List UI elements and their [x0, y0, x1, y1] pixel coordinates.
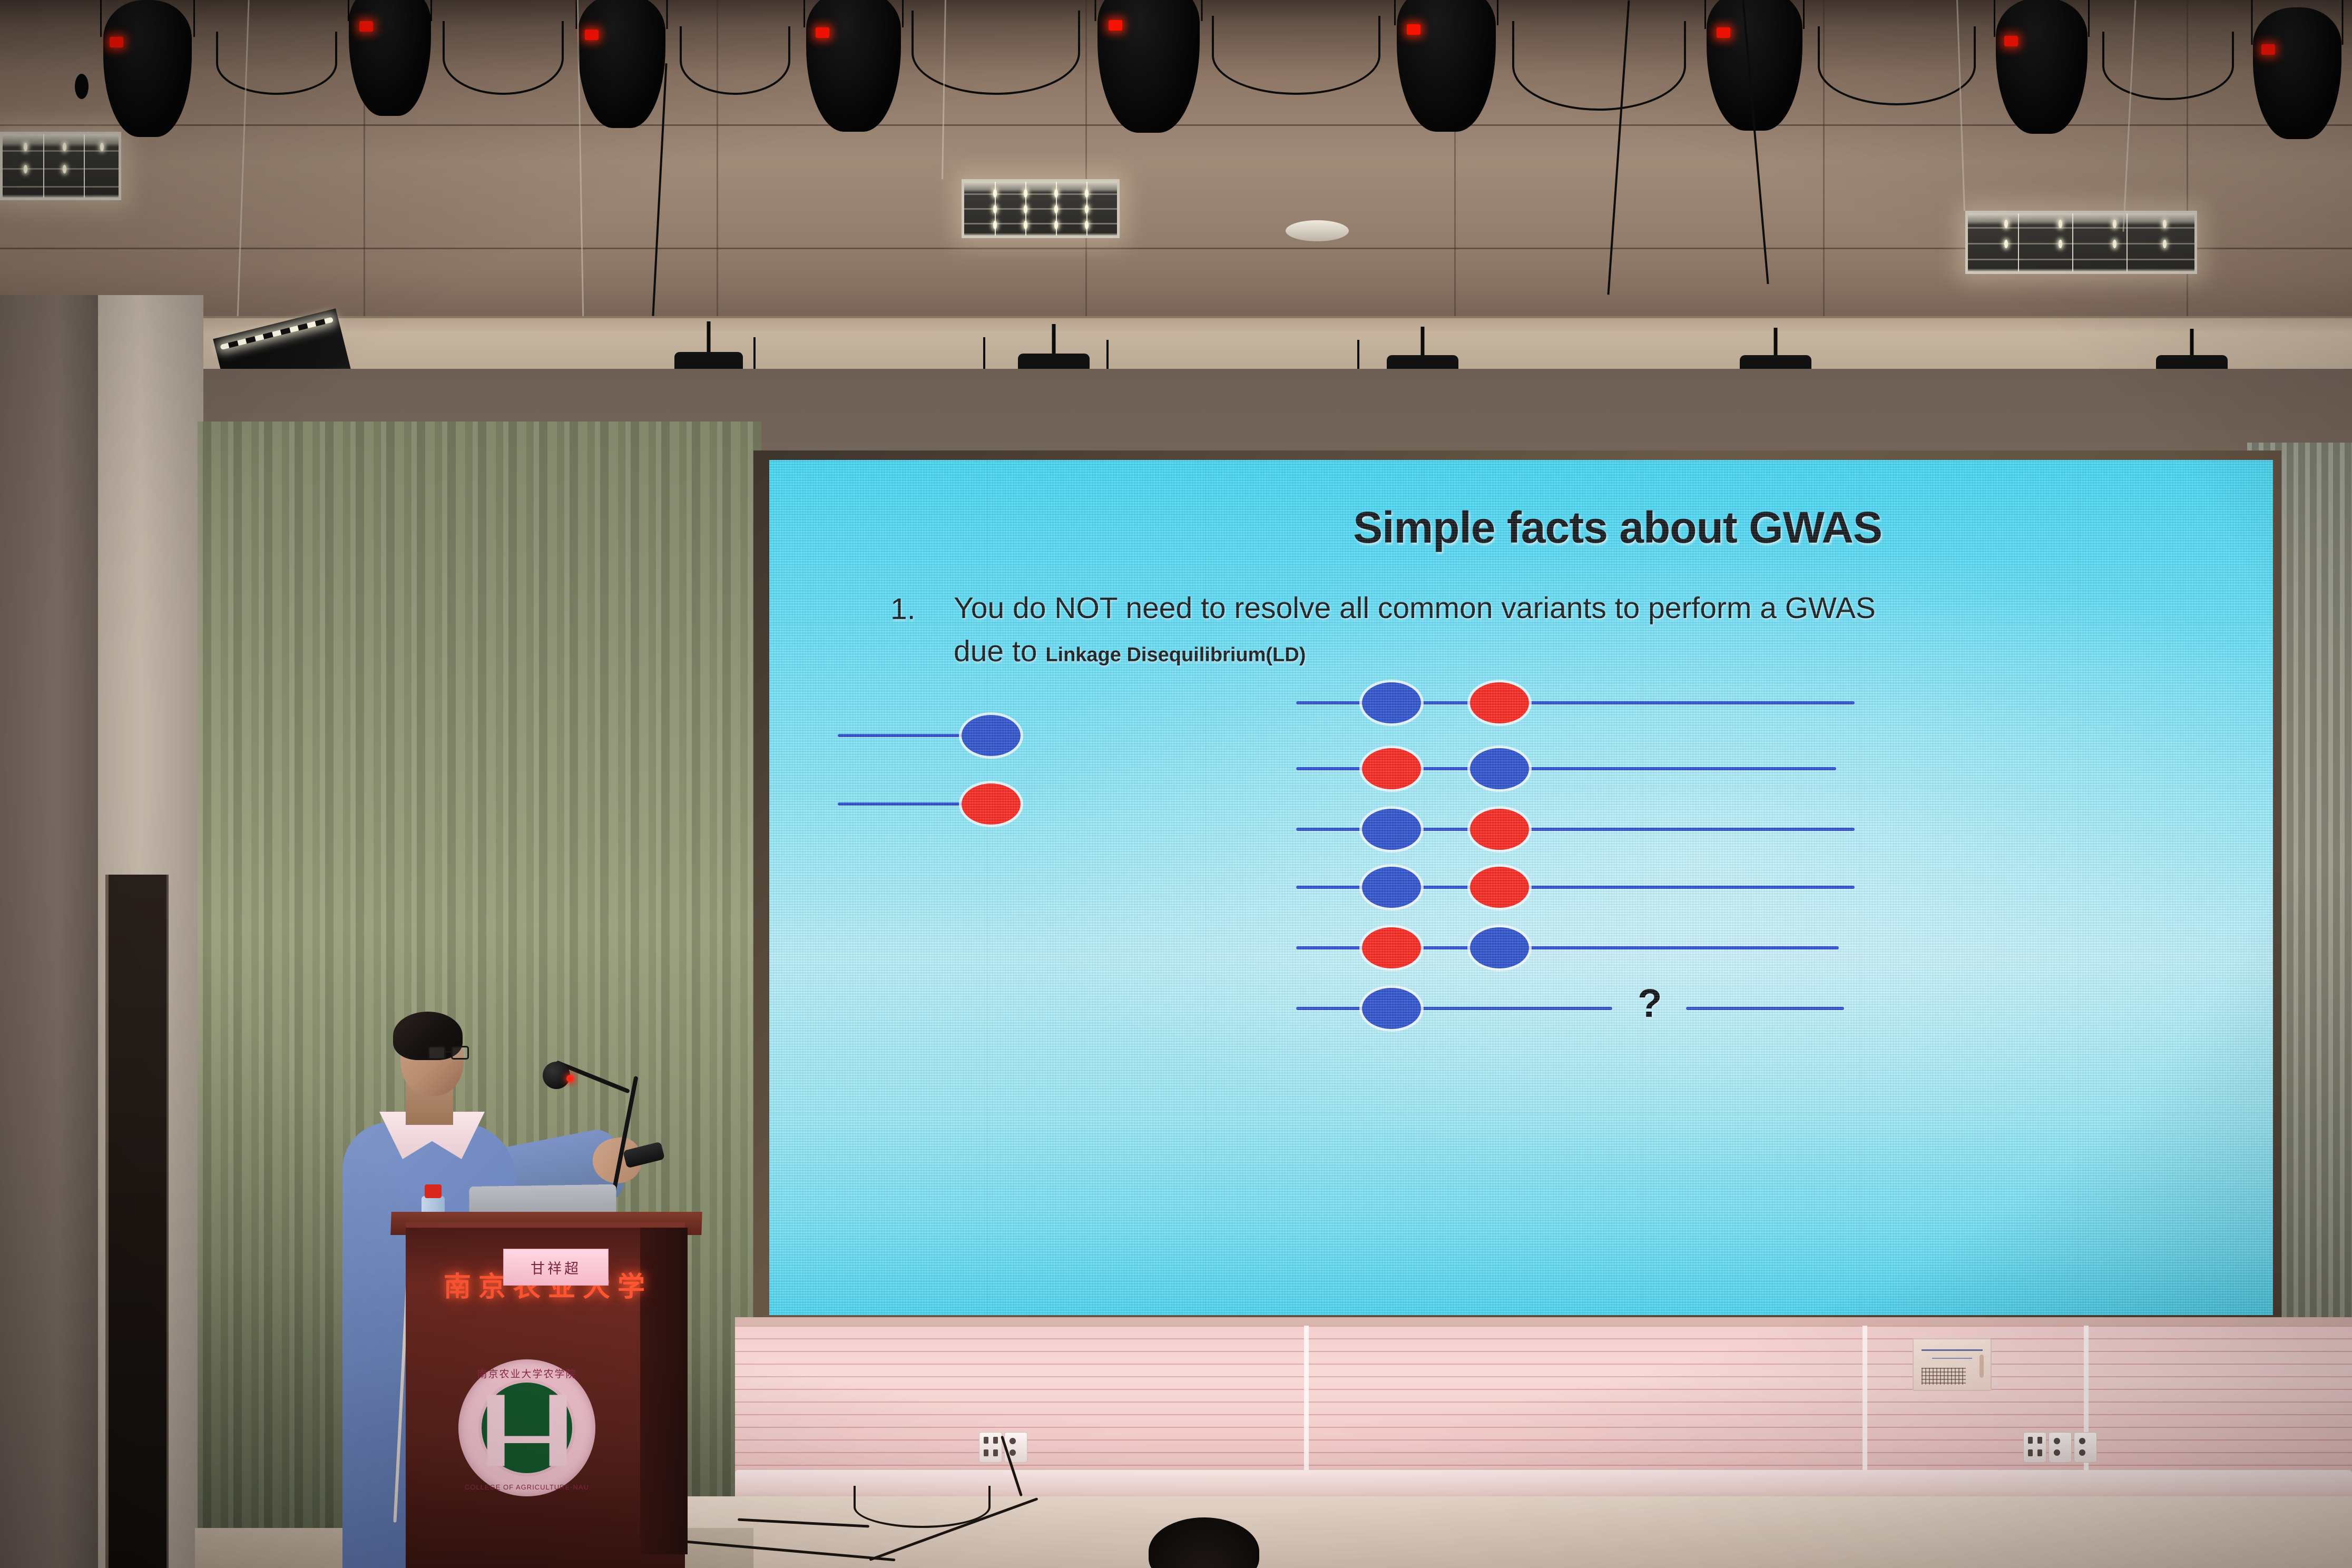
stage-light-hanging: [79, 0, 216, 137]
haplotype-row-5: [1296, 916, 1928, 979]
presentation-slide: Simple facts about GWAS 1. You do NOT ne…: [769, 460, 2273, 1315]
stage-light-hanging: [1971, 0, 2113, 137]
allele-marker-red: [1470, 682, 1529, 723]
university-emblem: 南京农业大学农学院 COLLEGE OF AGRICULTURE·NAU: [458, 1359, 595, 1496]
lecture-hall-photo: Simple facts about GWAS 1. You do NOT ne…: [0, 0, 2352, 1568]
stage-light-hanging: [327, 0, 453, 116]
ceiling-light-panel: [0, 132, 121, 200]
stage-light-hanging: [780, 0, 927, 137]
ceiling-light-panel: [962, 179, 1120, 238]
chromosome-line: [1686, 1007, 1844, 1010]
power-cable: [912, 11, 1080, 95]
power-cable: [1818, 26, 1976, 105]
ceiling-light-panel: [1965, 211, 2197, 274]
power-cable: [2102, 32, 2234, 100]
power-cable: [1512, 21, 1686, 111]
haplotype-row-left-2: [838, 772, 1133, 835]
haplotype-row-1: [1296, 671, 1928, 734]
microphone-head: [543, 1062, 570, 1089]
allele-marker-blue: [1362, 809, 1421, 850]
emblem-english-text: COLLEGE OF AGRICULTURE·NAU: [458, 1483, 595, 1491]
chromosome-line: [838, 734, 969, 737]
power-outlet[interactable]: [2074, 1432, 2097, 1463]
power-cable: [216, 32, 337, 95]
emblem-wheat-glyph-icon: [487, 1395, 567, 1466]
allele-marker-blue: [1362, 988, 1421, 1029]
led-screen: Simple facts about GWAS 1. You do NOT ne…: [769, 460, 2273, 1315]
power-cable: [1212, 16, 1380, 95]
allele-marker-blue: [1470, 927, 1529, 968]
haplotype-row-left-1: [838, 703, 1133, 767]
allele-marker-red: [1362, 927, 1421, 968]
slatted-wall-panel: [735, 1317, 2352, 1491]
wall-utility-panel[interactable]: [1913, 1338, 1992, 1391]
emblem-chinese-text: 南京农业大学农学院: [458, 1366, 595, 1380]
power-cable: [443, 21, 564, 95]
side-doorway: [105, 875, 169, 1568]
microphone-led-icon: [566, 1075, 574, 1082]
power-outlet[interactable]: [2023, 1432, 2046, 1463]
wall-pillar-dark: [0, 295, 105, 1568]
power-outlet[interactable]: [979, 1432, 1002, 1463]
power-cable: [680, 26, 790, 95]
ld-haplotype-diagram: ?: [769, 681, 2273, 1261]
haplotype-row-4: [1296, 855, 1928, 918]
slide-title: Simple facts about GWAS: [1170, 502, 2065, 553]
power-outlet[interactable]: [2049, 1432, 2072, 1463]
allele-marker-blue: [1470, 748, 1529, 789]
allele-marker-blue: [1362, 682, 1421, 723]
allele-marker-red: [1470, 867, 1529, 908]
haplotype-row-3: [1296, 797, 1928, 860]
allele-marker-red: [1470, 809, 1529, 850]
speaker-glasses: [428, 1046, 468, 1062]
stage-light-hanging: [2229, 0, 2352, 142]
haplotype-row-6: ?: [1296, 976, 1928, 1040]
allele-marker-blue: [1362, 867, 1421, 908]
stage-light-hanging: [1681, 0, 1828, 137]
bullet-line-2: due to Linkage Disequilibrium(LD): [954, 634, 2139, 669]
allele-marker-blue: [962, 715, 1021, 756]
stage-light-hanging: [1370, 0, 1523, 137]
bullet-line-2-emphasis: Linkage Disequilibrium(LD): [1045, 644, 1306, 666]
led-screen-frame: Simple facts about GWAS 1. You do NOT ne…: [753, 450, 2281, 1322]
stage-light-hanging: [553, 0, 690, 132]
chromosome-line: [1296, 1007, 1612, 1010]
bullet-line-1: You do NOT need to resolve all common va…: [954, 591, 2139, 625]
bullet-number: 1.: [890, 592, 916, 626]
question-mark-annotation: ?: [1638, 981, 1662, 1026]
speaker-name-card: 甘祥超: [503, 1249, 609, 1286]
smoke-detector: [1286, 220, 1349, 241]
stage-light-hanging: [1070, 0, 1228, 137]
haplotype-row-2: [1296, 737, 1928, 800]
bullet-line-2-prefix: due to: [954, 634, 1045, 668]
allele-marker-red: [962, 783, 1021, 825]
chromosome-line: [838, 802, 969, 806]
allele-marker-red: [1362, 748, 1421, 789]
